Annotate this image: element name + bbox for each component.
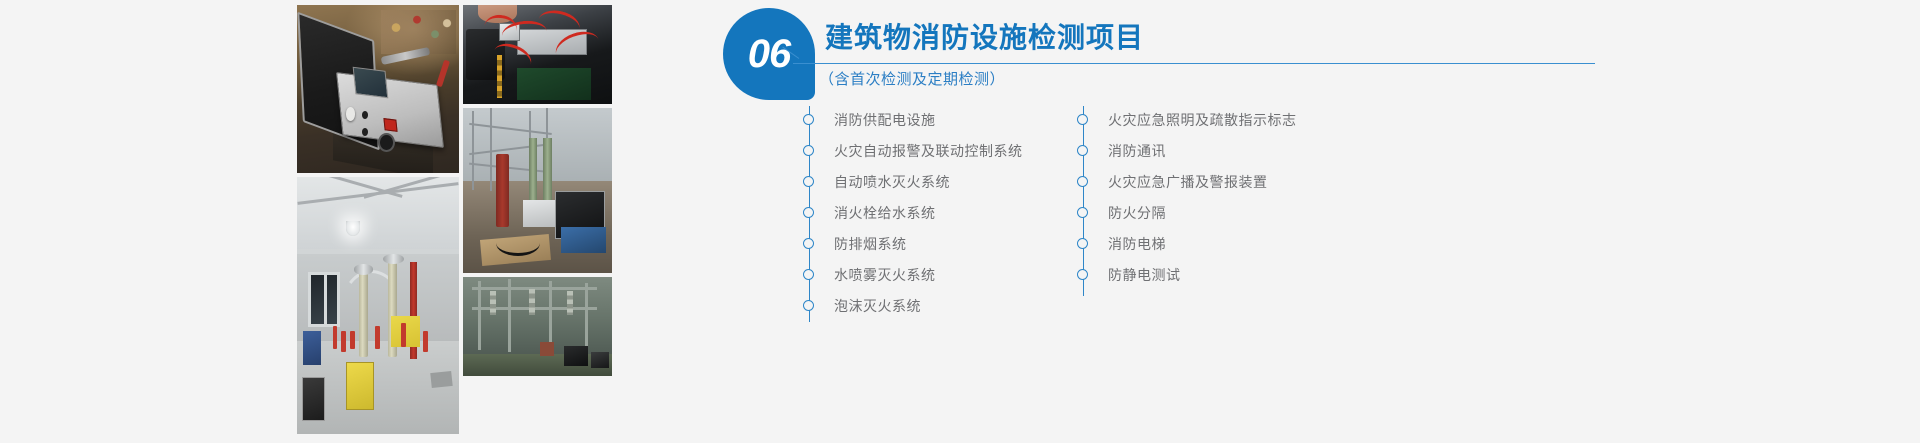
- list-item[interactable]: 消防电梯: [1077, 228, 1297, 259]
- list-item[interactable]: 防静电测试: [1077, 259, 1297, 290]
- list-item[interactable]: 自动喷水灭火系统: [803, 166, 1023, 197]
- checklist-column-right: 火灾应急照明及疏散指示标志 消防通讯 火灾应急广播及警报装置 防火分隔 消防电梯: [1077, 104, 1297, 290]
- list-item-label: 消火栓给水系统: [834, 203, 936, 223]
- photo-substation-equipment-yard: [463, 277, 612, 376]
- checklist-column-left: 消防供配电设施 火灾自动报警及联动控制系统 自动喷水灭火系统 消火栓给水系统 防…: [803, 104, 1023, 321]
- list-item[interactable]: 消防通讯: [1077, 135, 1297, 166]
- list-item[interactable]: 火灾自动报警及联动控制系统: [803, 135, 1023, 166]
- section-number-badge: 06: [723, 8, 815, 100]
- bullet-circle-icon: [803, 207, 814, 218]
- list-item-label: 泡沫灭火系统: [834, 296, 921, 316]
- bullet-circle-icon: [1077, 114, 1088, 125]
- photo-outdoor-tower-field-test: [463, 108, 612, 273]
- photo-instrument-case-workbench: [297, 5, 459, 173]
- bullet-circle-icon: [1077, 238, 1088, 249]
- bullet-circle-icon: [803, 176, 814, 187]
- section-content: 06 建筑物消防设施检测项目 （含首次检测及定期检测） 消防供配电设施 火灾自动…: [715, 0, 1715, 443]
- bullet-circle-icon: [1077, 207, 1088, 218]
- gallery-column-right: [463, 5, 612, 438]
- photo-indoor-high-voltage-lab: [297, 177, 459, 434]
- page-subtitle: （含首次检测及定期检测）: [819, 68, 1005, 89]
- list-item-label: 火灾应急广播及警报装置: [1108, 172, 1268, 192]
- list-item[interactable]: 水喷雾灭火系统: [803, 259, 1023, 290]
- bullet-circle-icon: [1077, 269, 1088, 280]
- list-item-label: 自动喷水灭火系统: [834, 172, 950, 192]
- list-item-label: 防静电测试: [1108, 265, 1181, 285]
- list-item-label: 水喷雾灭火系统: [834, 265, 936, 285]
- page-root: 06 建筑物消防设施检测项目 （含首次检测及定期检测） 消防供配电设施 火灾自动…: [0, 0, 1920, 443]
- bullet-circle-icon: [1077, 145, 1088, 156]
- image-gallery: [297, 5, 612, 438]
- bullet-circle-icon: [803, 145, 814, 156]
- list-item[interactable]: 消火栓给水系统: [803, 197, 1023, 228]
- page-title: 建筑物消防设施检测项目: [825, 16, 1144, 56]
- bullet-circle-icon: [803, 238, 814, 249]
- list-item[interactable]: 火灾应急照明及疏散指示标志: [1077, 104, 1297, 135]
- list-item[interactable]: 防火分隔: [1077, 197, 1297, 228]
- list-item-label: 防火分隔: [1108, 203, 1166, 223]
- bullet-circle-icon: [803, 114, 814, 125]
- list-item[interactable]: 泡沫灭火系统: [803, 290, 1023, 321]
- bullet-circle-icon: [803, 269, 814, 280]
- list-item-label: 火灾自动报警及联动控制系统: [834, 141, 1023, 161]
- list-item-label: 消防通讯: [1108, 141, 1166, 161]
- list-item[interactable]: 火灾应急广播及警报装置: [1077, 166, 1297, 197]
- title-divider: [793, 63, 1595, 64]
- section-number: 06: [723, 8, 815, 100]
- photo-red-cabling-closeup: [463, 5, 612, 104]
- list-item-label: 消防电梯: [1108, 234, 1166, 254]
- list-item[interactable]: 消防供配电设施: [803, 104, 1023, 135]
- list-item[interactable]: 防排烟系统: [803, 228, 1023, 259]
- bullet-circle-icon: [1077, 176, 1088, 187]
- list-item-label: 防排烟系统: [834, 234, 907, 254]
- list-item-label: 火灾应急照明及疏散指示标志: [1108, 110, 1297, 130]
- list-item-label: 消防供配电设施: [834, 110, 936, 130]
- gallery-column-left: [297, 5, 459, 438]
- bullet-circle-icon: [803, 300, 814, 311]
